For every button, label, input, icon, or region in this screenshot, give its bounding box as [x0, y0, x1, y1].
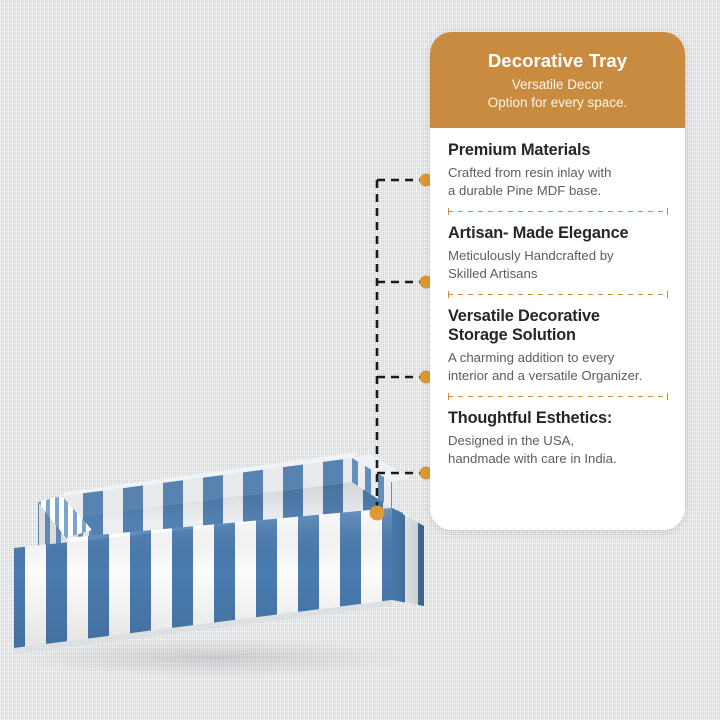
connector-dot-anchor [370, 506, 385, 521]
feature-body-line-2: Skilled Artisans [448, 266, 537, 281]
feature-body: Designed in the USA, handmade with care … [448, 432, 669, 467]
feature-title: Versatile Decorative Storage Solution [448, 307, 669, 345]
feature-list: Premium Materials Crafted from resin inl… [430, 128, 685, 530]
feature-separator [448, 294, 668, 295]
feature-body-line-2: a durable Pine MDF base. [448, 183, 601, 198]
feature-body-line-1: Meticulously Handcrafted by [448, 248, 614, 263]
feature-body-line-1: A charming addition to every [448, 350, 614, 365]
feature-title: Premium Materials [448, 141, 669, 160]
feature-item-versatile-storage: Versatile Decorative Storage Solution A … [448, 307, 669, 384]
feature-body: Meticulously Handcrafted by Skilled Arti… [448, 247, 669, 282]
connector-dashed-lines [377, 180, 420, 513]
feature-body: Crafted from resin inlay with a durable … [448, 164, 669, 199]
feature-separator [448, 211, 668, 212]
feature-item-premium-materials: Premium Materials Crafted from resin inl… [448, 141, 669, 199]
feature-title-line-1: Versatile Decorative [448, 307, 600, 325]
feature-item-artisan-made-elegance: Artisan- Made Elegance Meticulously Hand… [448, 224, 669, 282]
feature-title-line-2: Storage Solution [448, 326, 576, 344]
feature-body-line-2: handmade with care in India. [448, 451, 617, 466]
feature-card: Decorative Tray Versatile Decor Option f… [430, 32, 685, 530]
connector-dots [370, 174, 433, 521]
feature-body-line-1: Designed in the USA, [448, 433, 574, 448]
card-subtitle-line-2: Option for every space. [446, 94, 669, 112]
card-title: Decorative Tray [446, 50, 669, 72]
feature-item-thoughtful-esthetics: Thoughtful Esthetics: Designed in the US… [448, 409, 669, 467]
feature-body: A charming addition to every interior an… [448, 349, 669, 384]
feature-body-line-1: Crafted from resin inlay with [448, 165, 611, 180]
feature-title: Thoughtful Esthetics: [448, 409, 669, 428]
card-subtitle-line-1: Versatile Decor [446, 76, 669, 94]
feature-separator [448, 396, 668, 397]
infographic-canvas: Decorative Tray Versatile Decor Option f… [0, 0, 720, 720]
card-header: Decorative Tray Versatile Decor Option f… [430, 32, 685, 128]
feature-body-line-2: interior and a versatile Organizer. [448, 368, 642, 383]
feature-title: Artisan- Made Elegance [448, 224, 669, 243]
